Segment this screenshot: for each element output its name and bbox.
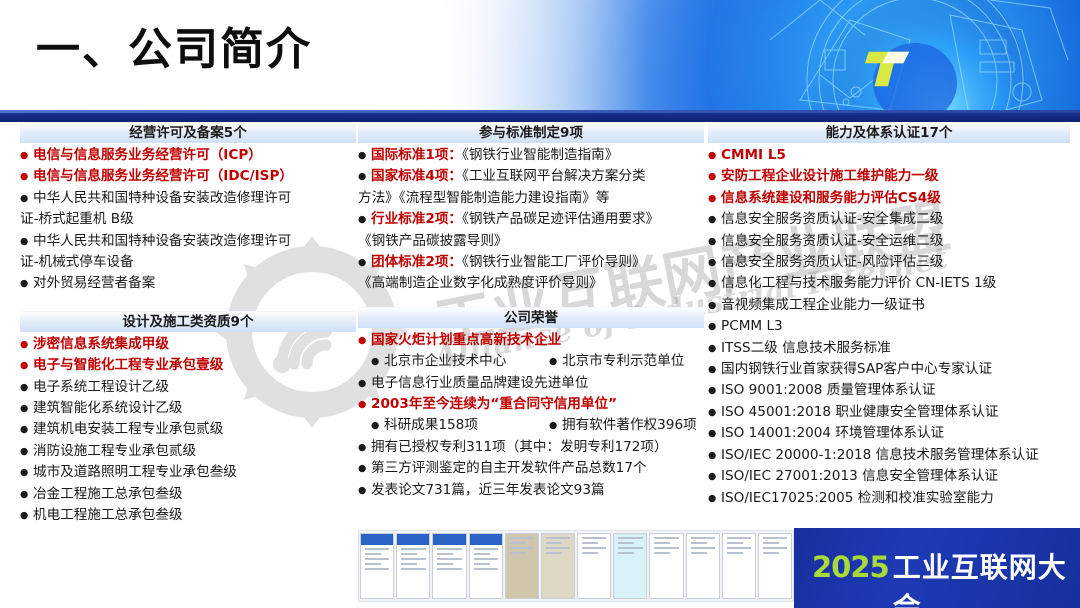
list-item: 拥有已授权专利311项（其中：发明专利172项） <box>358 437 704 458</box>
list-item: 电信与信息服务业务经营许可（IDC/ISP） <box>20 166 356 187</box>
list-item: 行业标准2项：《钢铁产品碳足迹评估通用要求》 <box>358 209 704 230</box>
list-item: 城市及道路照明工程专业承包叁级 <box>20 462 356 483</box>
certificate-thumbnail <box>360 533 394 599</box>
list-item: 消防设施工程专业承包贰级 <box>20 441 356 462</box>
certificate-header-band <box>397 534 429 545</box>
section-business-licenses: 经营许可及备案5个 电信与信息服务业务经营许可（ICP） 电信与信息服务业务经营… <box>20 122 356 295</box>
list-item: 信息系统建设和服务能力评估CS4级 <box>708 188 1070 209</box>
list-item: ISO 14001:2004 环境管理体系认证 <box>708 423 1070 444</box>
list-item: 冶金工程施工总承包叁级 <box>20 484 356 505</box>
list-item: ● 北京市企业技术中心 <box>371 351 549 372</box>
section-capability-certifications: 能力及体系认证17个 CMMI L5 安防工程企业设计施工维护能力一级 信息系统… <box>708 122 1070 509</box>
list-item-label: 北京市专利示范单位 <box>562 353 684 369</box>
list-item: 音视频集成工程企业能力一级证书 <box>708 295 1070 316</box>
list-item-label: 拥有软件著作权396项 <box>562 417 697 433</box>
certificate-thumbnail <box>432 533 466 599</box>
section-header-standards-participation: 参与标准制定9项 <box>358 122 704 143</box>
list-item: ● 北京市专利示范单位 <box>549 351 704 372</box>
list-company-honors: 国家火炬计划重点高新技术企业 ● 北京市企业技术中心 ● 北京市专利示范单位 电… <box>358 330 704 501</box>
list-item: 信息化工程与技术服务能力评价 CN-IETS 1级 <box>708 273 1070 294</box>
conference-name-cn: 工业互联网大会 <box>893 546 1080 608</box>
list-item-lead: 行业标准2项： <box>371 211 462 227</box>
list-item: 电子系统工程设计乙级 <box>20 377 356 398</box>
certificate-thumbnail <box>469 533 503 599</box>
section-company-honors: 公司荣誉 国家火炬计划重点高新技术企业 ● 北京市企业技术中心 ● 北京市专利示… <box>358 307 704 501</box>
header-navy-band-shine <box>0 110 1080 113</box>
section-header-company-honors: 公司荣誉 <box>358 307 704 328</box>
section-spacer <box>358 295 704 307</box>
list-item-rest: 《钢铁行业智能工厂评价导则》 <box>462 254 646 270</box>
certificate-thumbnail-strip <box>358 530 794 602</box>
list-item-continuation: 证-机械式停车设备 <box>20 252 356 273</box>
list-item: ISO 45001:2018 职业健康安全管理体系认证 <box>708 402 1070 423</box>
certificate-thumbnail <box>722 533 756 599</box>
certificate-thumbnail <box>686 533 720 599</box>
certificate-thumbnail <box>541 533 575 599</box>
list-item: 中华人民共和国特种设备安装改造修理许可 <box>20 188 356 209</box>
list-item: 中华人民共和国特种设备安装改造修理许可 <box>20 231 356 252</box>
list-item: 国际标准1项：《钢铁行业智能制造指南》 <box>358 145 704 166</box>
list-item: 信息安全服务资质认证-安全集成二级 <box>708 209 1070 230</box>
certificate-thumbnail <box>613 533 647 599</box>
certificate-thumbnail <box>505 533 539 599</box>
section-header-business-licenses: 经营许可及备案5个 <box>20 122 356 143</box>
certificate-header-band <box>433 534 465 545</box>
list-capability-certifications: CMMI L5 安防工程企业设计施工维护能力一级 信息系统建设和服务能力评估CS… <box>708 145 1070 509</box>
certificate-thumbnail <box>577 533 611 599</box>
list-item: ISO/IEC 27001:2013 信息安全管理体系认证 <box>708 466 1070 487</box>
list-item-continuation: 《高端制造企业数字化成熟度评价导则》 <box>358 273 704 294</box>
list-item: 机电工程施工总承包叁级 <box>20 505 356 526</box>
list-item: 第三方评测鉴定的自主开发软件产品总数17个 <box>358 458 704 479</box>
conference-year: 2025 <box>812 550 889 584</box>
list-item-lead: 团体标准2项： <box>371 254 462 270</box>
section-header-design-construction-quals: 设计及施工类资质9个 <box>20 311 356 332</box>
bullet-icon: ● <box>371 415 379 436</box>
section-header-capability-certifications: 能力及体系认证17个 <box>708 122 1070 143</box>
list-item: 涉密信息系统集成甲级 <box>20 334 356 355</box>
list-item-lead: 国家标准4项： <box>371 168 462 184</box>
slide-header: 一、公司简介 <box>0 0 1080 122</box>
bullet-icon: ● <box>549 415 557 436</box>
conference-logo-inner: 2025 工业互联网大会 INDUSTRIAL INTERNET CONFERE… <box>812 546 1080 608</box>
list-item: ITSS二级 信息技术服务标准 <box>708 338 1070 359</box>
column-left: 经营许可及备案5个 电信与信息服务业务经营许可（ICP） 电信与信息服务业务经营… <box>20 122 356 527</box>
list-item: 信息安全服务资质认证-安全运维二级 <box>708 231 1070 252</box>
list-item-continuation: 《钢铁产品碳披露导则》 <box>358 231 704 252</box>
list-item: 国家火炬计划重点高新技术企业 <box>358 330 704 351</box>
list-item: 电信与信息服务业务经营许可（ICP） <box>20 145 356 166</box>
list-standards-participation: 国际标准1项：《钢铁行业智能制造指南》 国家标准4项：《工业互联网平台解决方案分… <box>358 145 704 295</box>
section-design-construction-quals: 设计及施工类资质9个 涉密信息系统集成甲级 电子与智能化工程专业承包壹级 电子系… <box>20 311 356 527</box>
list-item-continuation: 方法》《流程型智能制造能力建设指南》等 <box>358 188 704 209</box>
company-t-logo-icon <box>859 44 917 94</box>
list-item: 建筑机电安装工程专业承包贰级 <box>20 419 356 440</box>
list-item: ISO/IEC17025:2005 检测和校准实验室能力 <box>708 488 1070 509</box>
list-item-rest: 《钢铁行业智能制造指南》 <box>462 147 618 163</box>
list-design-construction-quals: 涉密信息系统集成甲级 电子与智能化工程专业承包壹级 电子系统工程设计乙级 建筑智… <box>20 334 356 527</box>
list-item: 国家标准4项：《工业互联网平台解决方案分类 <box>358 166 704 187</box>
presentation-slide: 一、公司简介 工业互联网产业联盟 Alliance of Industrial … <box>0 0 1080 608</box>
list-item: 发表论文731篇，近三年发表论文93篇 <box>358 480 704 501</box>
list-item: 2003年至今连续为“重合同守信用单位” <box>358 394 704 415</box>
list-item: 电子信息行业质量品牌建设先进单位 <box>358 373 704 394</box>
list-item: CMMI L5 <box>708 145 1070 166</box>
bullet-icon: ● <box>549 351 557 372</box>
list-item: ● 科研成果158项 <box>371 415 549 436</box>
list-item-rest: 《钢铁产品碳足迹评估通用要求》 <box>462 211 659 227</box>
list-item: ● 拥有软件著作权396项 <box>549 415 704 436</box>
list-item: PCMM L3 <box>708 316 1070 337</box>
list-business-licenses: 电信与信息服务业务经营许可（ICP） 电信与信息服务业务经营许可（IDC/ISP… <box>20 145 356 295</box>
column-right: 能力及体系认证17个 CMMI L5 安防工程企业设计施工维护能力一级 信息系统… <box>708 122 1070 509</box>
list-item: 电子与智能化工程专业承包壹级 <box>20 355 356 376</box>
conference-logo-main: 2025 工业互联网大会 <box>812 546 1080 608</box>
list-item-continuation: 证-桥式起重机 B级 <box>20 209 356 230</box>
list-item-pair-row: ● 科研成果158项 ● 拥有软件著作权396项 <box>358 415 704 436</box>
column-middle: 参与标准制定9项 国际标准1项：《钢铁行业智能制造指南》 国家标准4项：《工业互… <box>358 122 704 501</box>
list-item-label: 科研成果158项 <box>384 417 478 433</box>
list-item: ISO 9001:2008 质量管理体系认证 <box>708 380 1070 401</box>
list-item: 团体标准2项：《钢铁行业智能工厂评价导则》 <box>358 252 704 273</box>
list-item-rest: 《工业互联网平台解决方案分类 <box>462 168 646 184</box>
section-standards-participation: 参与标准制定9项 国际标准1项：《钢铁行业智能制造指南》 国家标准4项：《工业互… <box>358 122 704 295</box>
list-item-lead: 国际标准1项： <box>371 147 462 163</box>
list-item: 国内钢铁行业首家获得SAP客户中心专家认证 <box>708 359 1070 380</box>
page-title: 一、公司简介 <box>36 26 312 74</box>
list-item: 对外贸易经营者备案 <box>20 273 356 294</box>
list-item: ISO/IEC 20000-1:2018 信息技术服务管理体系认证 <box>708 445 1070 466</box>
conference-logo: 2025 工业互联网大会 INDUSTRIAL INTERNET CONFERE… <box>794 528 1080 608</box>
list-item-label: 北京市企业技术中心 <box>384 353 506 369</box>
list-item: 安防工程企业设计施工维护能力一级 <box>708 166 1070 187</box>
section-spacer <box>20 295 356 311</box>
list-item-pair-row: ● 北京市企业技术中心 ● 北京市专利示范单位 <box>358 351 704 372</box>
list-item: 信息安全服务资质认证-风险评估三级 <box>708 252 1070 273</box>
list-item: 建筑智能化系统设计乙级 <box>20 398 356 419</box>
certificate-header-band <box>470 534 502 545</box>
certificate-thumbnail <box>396 533 430 599</box>
certificate-thumbnail <box>649 533 683 599</box>
certificate-thumbnail <box>758 533 792 599</box>
bullet-icon: ● <box>371 351 379 372</box>
certificate-header-band <box>361 534 393 545</box>
